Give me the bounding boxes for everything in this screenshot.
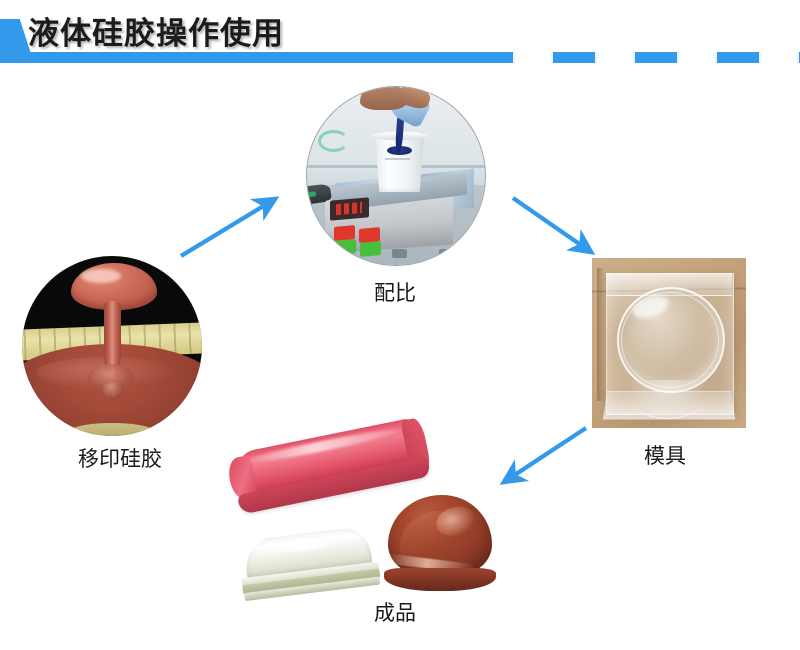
page-header: 液体硅胶操作使用 <box>0 0 800 70</box>
image-pad-printing-silicone-pour <box>22 256 202 436</box>
scale-led-display <box>330 197 369 220</box>
scale-key-red-2 <box>359 227 380 243</box>
arrow-1-line <box>181 199 275 256</box>
scale-key-green-1 <box>335 239 356 255</box>
cardboard-edge <box>597 268 605 401</box>
acrylic-block-bottom-face <box>603 391 735 419</box>
brown-dome-silicone-pad <box>384 495 496 593</box>
image-transparent-acrylic-mold <box>592 258 746 428</box>
arrow-3-line <box>504 428 586 482</box>
silicone-splash-small <box>103 380 123 400</box>
page-title: 液体硅胶操作使用 <box>28 8 284 53</box>
node-label-product: 成品 <box>320 597 470 627</box>
wall-green-marking <box>318 130 349 152</box>
page-root: 液体硅胶操作使用 移印硅胶 <box>0 0 800 650</box>
arrow-2-line <box>513 198 591 252</box>
mixing-cup-graduation <box>385 158 410 160</box>
arrow-silicone-to-ratio <box>175 188 295 268</box>
arrow-ratio-to-mold <box>505 188 625 268</box>
node-label-mold: 模具 <box>595 440 735 470</box>
funnel-highlight <box>81 269 121 283</box>
header-bar-dashed <box>472 52 800 63</box>
brown-pad-base <box>384 568 496 592</box>
header-bar-solid <box>28 52 472 63</box>
scale-foot-1 <box>392 249 406 258</box>
node-label-ratio: 配比 <box>320 277 470 307</box>
image-finished-silicone-pads <box>232 425 514 597</box>
bucket-bottom-rim <box>69 423 155 436</box>
scale-foot-2 <box>439 249 453 258</box>
scale-key-green-2 <box>360 241 381 257</box>
node-label-silicone: 移印硅胶 <box>25 443 215 473</box>
translucent-silicone-pad <box>237 525 381 601</box>
arrow-mold-to-product <box>490 420 610 500</box>
image-weighing-scale-mixing-ratio <box>306 86 486 266</box>
